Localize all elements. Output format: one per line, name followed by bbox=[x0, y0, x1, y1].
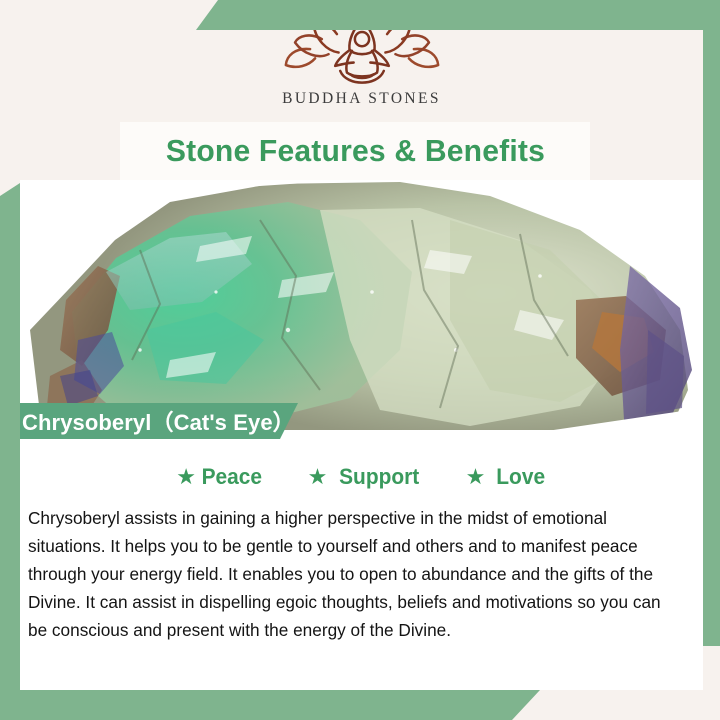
benefit-item: ★ Love bbox=[466, 464, 547, 490]
description-text: Chrysoberyl assists in gaining a higher … bbox=[28, 504, 684, 644]
content-card: BUDDHA STONES bbox=[20, 0, 703, 690]
benefit-item: ★ Peace bbox=[176, 464, 263, 490]
brand-header: BUDDHA STONES bbox=[20, 0, 703, 122]
frame-bottom-bar bbox=[0, 690, 540, 720]
star-icon: ★ bbox=[466, 466, 486, 488]
benefits-row: ★ Peace ★ Support ★ Love bbox=[20, 464, 703, 490]
brand-name: BUDDHA STONES bbox=[282, 90, 441, 108]
frame-right-bar bbox=[703, 0, 720, 646]
star-icon: ★ bbox=[176, 466, 196, 488]
infographic-card: BUDDHA STONES bbox=[0, 0, 720, 720]
benefit-label: Love bbox=[497, 464, 546, 490]
benefits-and-description: ★ Peace ★ Support ★ Love Chrysoberyl ass… bbox=[20, 442, 703, 652]
logo-lockup: BUDDHA STONES bbox=[20, 14, 703, 108]
benefit-label: Support bbox=[339, 464, 419, 490]
stone-name: Chrysoberyl（Cat's Eye） bbox=[0, 405, 295, 437]
benefit-item: ★ Support bbox=[308, 464, 422, 490]
star-icon: ★ bbox=[308, 466, 328, 488]
bottom-spacer bbox=[20, 652, 703, 690]
title-banner: Stone Features & Benefits bbox=[120, 122, 590, 180]
lotus-meditation-icon bbox=[278, 14, 446, 86]
page-title: Stone Features & Benefits bbox=[165, 133, 544, 169]
benefit-label: Peace bbox=[202, 464, 262, 490]
stone-name-banner: Chrysoberyl（Cat's Eye） bbox=[0, 403, 298, 439]
